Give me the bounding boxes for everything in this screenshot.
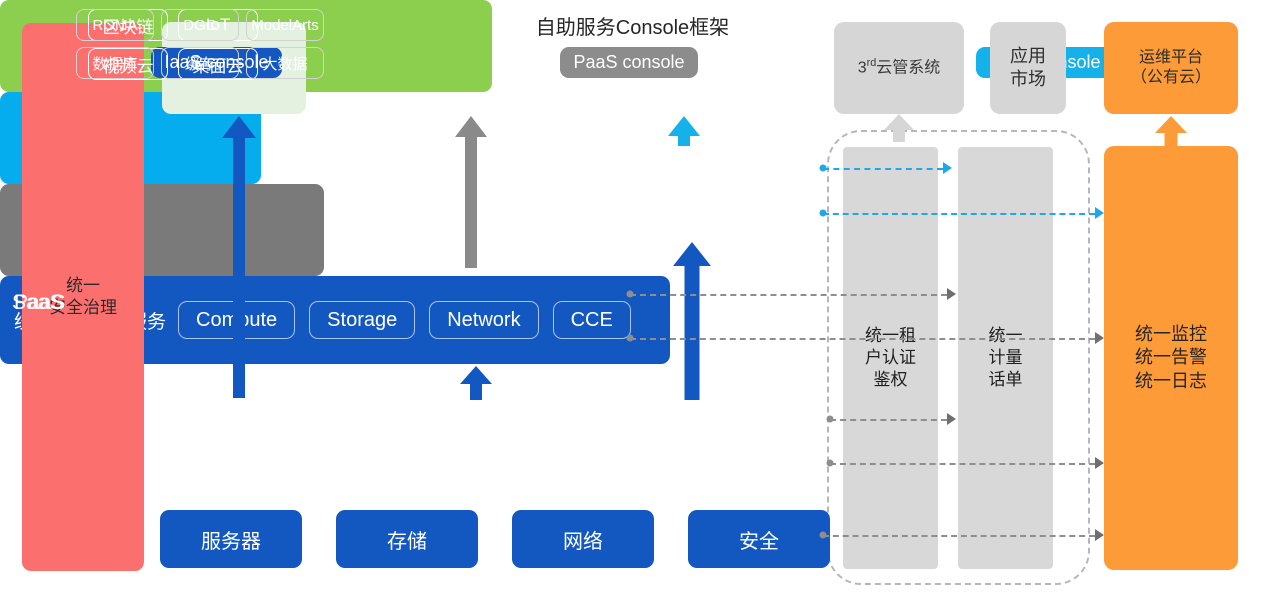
ops-monitoring-column: 统一监控 统一告警 统一日志 <box>1104 146 1238 570</box>
paas-item-roma[interactable]: ROMA <box>76 9 154 41</box>
connector-arrowhead-saas-upper <box>943 162 952 174</box>
tenant-auth-line1: 统一租 <box>865 325 916 347</box>
infra-item-storage[interactable]: Storage <box>309 301 415 339</box>
connector-saas-to-auth-upper <box>823 168 943 170</box>
ops-platform-line2: （公有云） <box>1131 68 1211 88</box>
connector-arrowhead-paas-lower <box>1095 332 1104 344</box>
arrow-infra-to-paas <box>460 366 492 400</box>
tenant-auth-line2: 户认证 <box>865 347 916 369</box>
infra-item-cce[interactable]: CCE <box>553 301 631 339</box>
ops-column-line3: 统一日志 <box>1135 370 1207 393</box>
metering-billing-column: 统一 计量 话单 <box>958 147 1053 569</box>
tenant-auth-line3: 鉴权 <box>865 369 916 391</box>
ops-platform-box: 运维平台 （公有云） <box>1104 22 1238 114</box>
connector-arrowhead-hardware <box>1095 529 1104 541</box>
metering-line2: 计量 <box>989 347 1023 369</box>
metering-line1: 统一 <box>989 325 1023 347</box>
connector-hardware-to-ops <box>823 535 1095 537</box>
hardware-item-security[interactable]: 安全 <box>688 510 830 568</box>
app-market-line1: 应用 <box>1010 45 1046 68</box>
connector-arrowhead-paas-upper <box>947 288 956 300</box>
paas-item-dgc[interactable]: DGC <box>161 9 239 41</box>
paas-item-cache[interactable]: 缓存 <box>161 47 239 79</box>
connector-paas-to-ops <box>630 338 1095 340</box>
hardware-item-network[interactable]: 网络 <box>512 510 654 568</box>
connector-infra-to-ops <box>830 463 1095 465</box>
connector-infra-to-metering <box>830 419 947 421</box>
arrow-saas-to-console <box>668 116 700 146</box>
paas-item-bigdata[interactable]: 大数据 <box>246 47 324 79</box>
application-market-box: 应用 市场 <box>990 22 1066 114</box>
ops-platform-line1: 运维平台 <box>1131 48 1211 68</box>
third-party-cloud-mgmt-box: 3rd云管系统 <box>834 22 964 114</box>
cloud-mgmt-suffix: 云管系统 <box>876 59 940 76</box>
architecture-diagram: 统一 安全治理 API网关 自助服务Console框架 IaaS console… <box>0 0 1265 605</box>
app-market-line2: 市场 <box>1010 68 1046 91</box>
connector-arrowhead-infra-upper <box>947 413 956 425</box>
cloud-mgmt-prefix: 3 <box>858 59 867 76</box>
hardware-row: 服务器 存储 网络 安全 <box>160 510 830 568</box>
paas-console-pill[interactable]: PaaS console <box>560 47 697 78</box>
arrow-infra-to-saas <box>673 242 711 400</box>
ops-column-line2: 统一告警 <box>1135 346 1207 369</box>
arrow-paas-to-console <box>455 116 487 268</box>
connector-arrowhead-infra-lower <box>1095 457 1104 469</box>
paas-item-modelarts[interactable]: ModelArts <box>246 9 324 41</box>
connector-arrowhead-saas-lower <box>1095 207 1104 219</box>
ops-column-line1: 统一监控 <box>1135 323 1207 346</box>
paas-item-database[interactable]: 数据库 <box>76 47 154 79</box>
infra-item-network[interactable]: Network <box>429 301 538 339</box>
tenant-auth-column: 统一租 户认证 鉴权 <box>843 147 938 569</box>
hardware-item-storage[interactable]: 存储 <box>336 510 478 568</box>
metering-line3: 话单 <box>989 369 1023 391</box>
paas-label: PaaS <box>14 0 65 605</box>
arrow-into-cloud-mgmt <box>884 114 914 142</box>
connector-saas-to-ops <box>823 213 1095 215</box>
arrow-infra-to-api-gateway <box>222 116 256 398</box>
arrow-ops-column-to-platform <box>1155 116 1187 146</box>
paas-panel: PaaS ROMA DGC ModelArts 数据库 缓存 大数据 <box>0 184 324 276</box>
hardware-item-server[interactable]: 服务器 <box>160 510 302 568</box>
cloud-mgmt-ordinal: rd <box>867 57 877 69</box>
paas-service-grid: ROMA DGC ModelArts 数据库 缓存 大数据 <box>76 9 324 79</box>
connector-paas-to-auth-upper <box>630 294 947 296</box>
